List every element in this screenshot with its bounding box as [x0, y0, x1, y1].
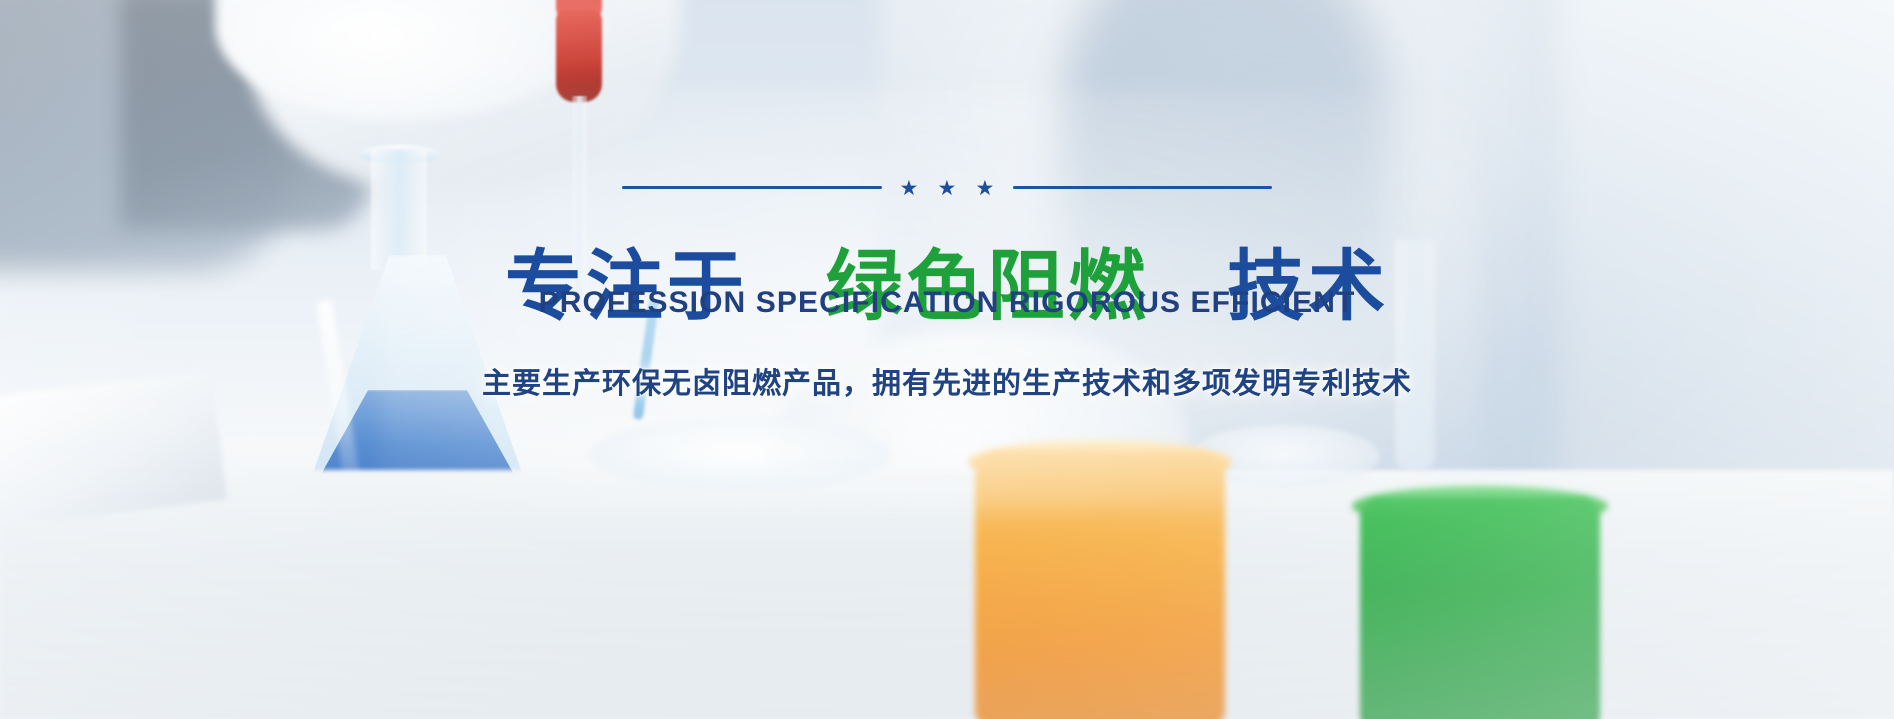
divider-stars: ★ ★ ★	[900, 178, 995, 197]
banner-content: ★ ★ ★ 专注于 绿色阻燃 技术 PROFESSION SPECIFICATI…	[0, 0, 1894, 719]
star-icon-2: ★	[938, 178, 957, 197]
divider-line-left	[622, 186, 882, 189]
star-icon-3: ★	[976, 178, 995, 197]
banner-hero: ★ ★ ★ 专注于 绿色阻燃 技术 PROFESSION SPECIFICATI…	[0, 0, 1894, 719]
star-icon-1: ★	[900, 178, 919, 197]
divider-line-right	[1013, 186, 1273, 189]
banner-subtitle-english: PROFESSION SPECIFICATION RIGOROUS EFFICI…	[539, 286, 1356, 320]
banner-subtitle-chinese: 主要生产环保无卤阻燃产品，拥有先进的生产技术和多项发明专利技术	[482, 360, 1412, 402]
decorative-divider: ★ ★ ★	[622, 178, 1272, 197]
